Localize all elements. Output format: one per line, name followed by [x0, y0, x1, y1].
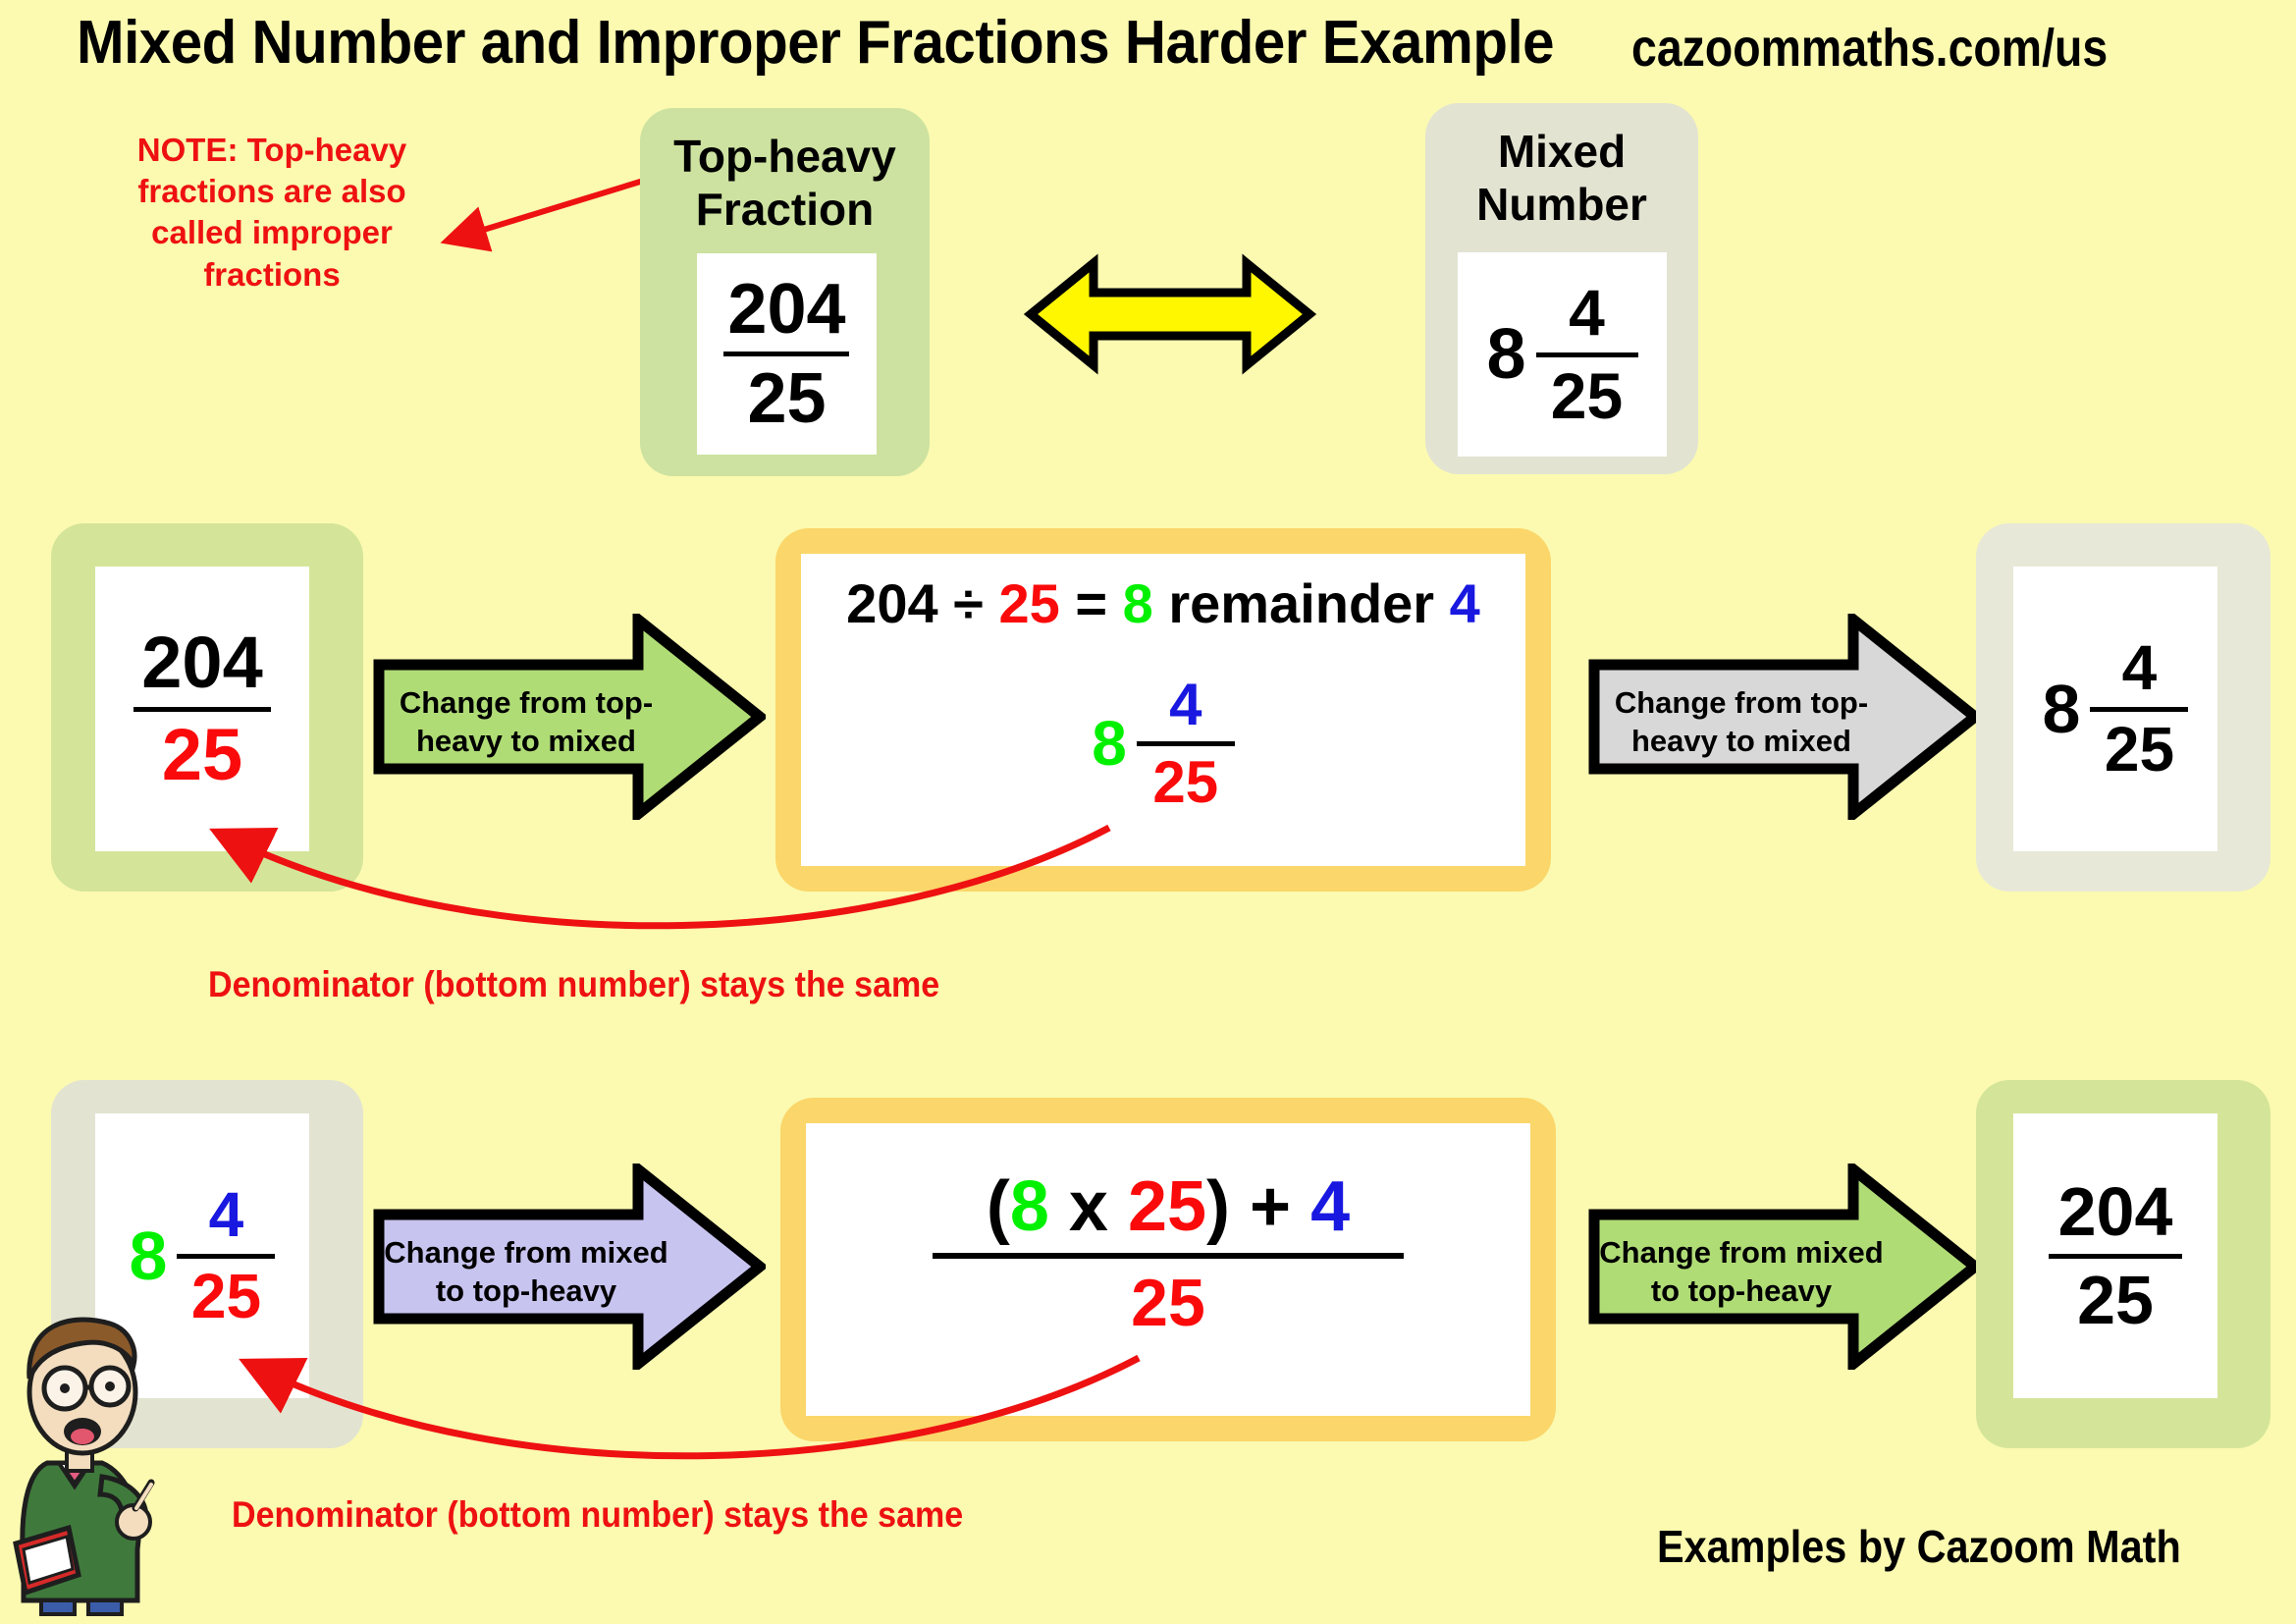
mixed-8-4-25: 8 4 25	[1486, 279, 1637, 431]
fraction-bar	[2049, 1254, 2182, 1259]
bottom-denominator-curve-arrow	[226, 1330, 1168, 1488]
mixed-number-card: Mixed Number 8 4 25	[1425, 103, 1698, 474]
middle-denominator-curve-arrow	[196, 800, 1139, 957]
fraction-bar	[723, 352, 849, 356]
top-heavy-fraction-card: Top-heavy Fraction 204 25	[640, 108, 930, 476]
note-pointer-arrow	[432, 167, 658, 260]
double-headed-arrow-icon	[1023, 245, 1317, 383]
mixed-number-card-label: Mixed Number	[1425, 103, 1698, 232]
fraction-204-25: 204 25	[2049, 1175, 2182, 1335]
fraction-bar	[133, 707, 271, 712]
middle-end-card: 8 4 25	[1976, 523, 2270, 892]
page-title: Mixed Number and Improper Fractions Hard…	[77, 8, 1554, 78]
middle-end-fraction-box: 8 4 25	[2013, 567, 2217, 851]
top-heavy-fraction-box: 204 25	[697, 253, 877, 455]
top-heavy-card-label: Top-heavy Fraction	[640, 108, 930, 237]
poster-canvas: Mixed Number and Improper Fractions Hard…	[0, 0, 2296, 1624]
arrow-label: Change from top-heavy to mixed	[373, 684, 766, 761]
mixed-8-4-25: 8 4 25	[2043, 635, 2189, 784]
fraction-bar	[2090, 707, 2188, 712]
note-text: NOTE: Top-heavy fractions are also calle…	[90, 130, 454, 296]
fraction-bar	[1137, 741, 1235, 746]
arrow-label: Change from mixed to top-heavy	[373, 1234, 766, 1311]
teacher-character-icon	[8, 1255, 194, 1618]
mixed-number-box: 8 4 25	[1458, 252, 1667, 457]
bottom-caption: Denominator (bottom number) stays the sa…	[232, 1494, 963, 1536]
arrow-label: Change from top-heavy to mixed	[1588, 684, 1981, 761]
fraction-204-25-red-denominator: 204 25	[133, 624, 271, 793]
footer-credit: Examples by Cazoom Math	[1657, 1520, 2181, 1573]
arrow-label: Change from mixed to top-heavy	[1588, 1234, 1981, 1311]
fraction-bar	[1536, 352, 1638, 357]
middle-caption: Denominator (bottom number) stays the sa…	[208, 964, 939, 1005]
arrow-change-top-heavy-to-mixed-2: Change from top-heavy to mixed	[1588, 614, 1981, 820]
site-url: cazoommaths.com/us	[1631, 18, 2108, 79]
division-equation: 204 ÷ 25 = 8 remainder 4	[801, 571, 1525, 635]
bottom-end-fraction-box: 204 25	[2013, 1113, 2217, 1398]
mixed-result: 8 4 25	[801, 674, 1525, 813]
fraction-204-25: 204 25	[721, 272, 851, 437]
arrow-change-top-heavy-to-mixed-1: Change from top-heavy to mixed	[373, 614, 766, 820]
fraction-bar	[933, 1253, 1404, 1259]
mixed-to-improper-expression: (8 x 25) + 4 25	[806, 1170, 1530, 1341]
arrow-change-mixed-to-top-heavy-2: Change from mixed to top-heavy	[1588, 1164, 1981, 1370]
bottom-end-card: 204 25	[1976, 1080, 2270, 1448]
